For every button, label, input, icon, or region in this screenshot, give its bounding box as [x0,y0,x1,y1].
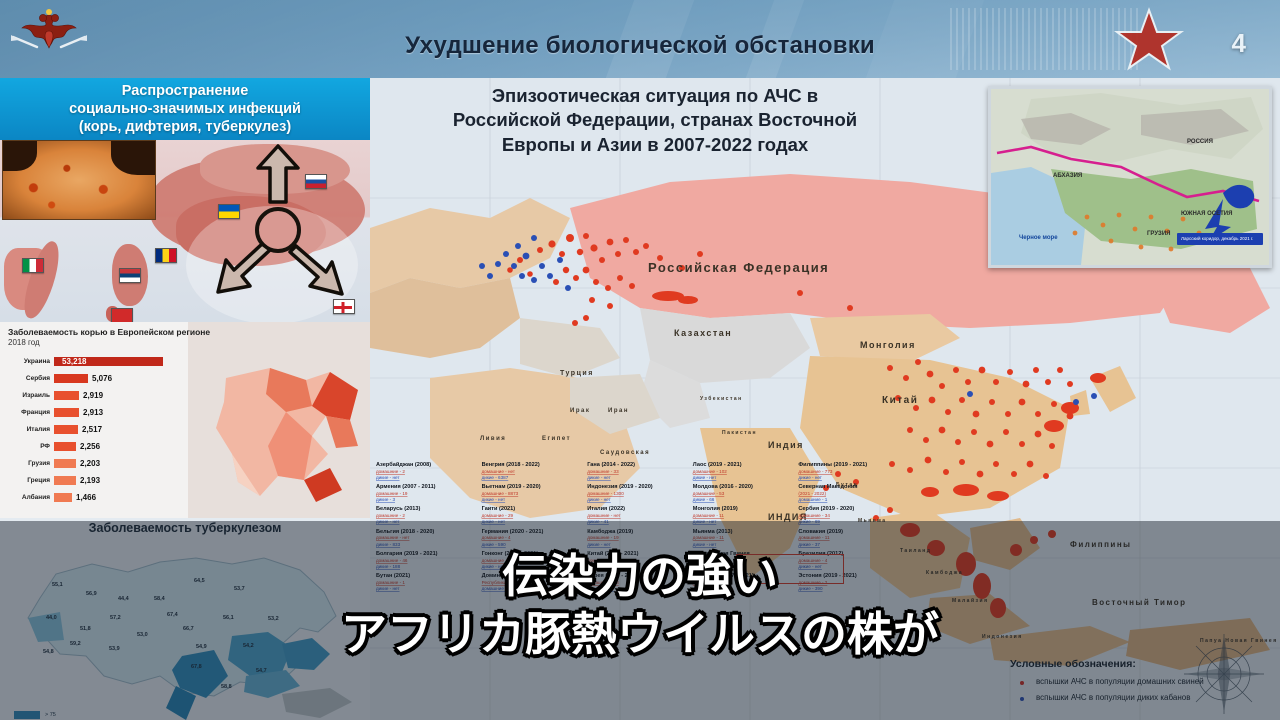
map-title: Эпизоотическая ситуация по АЧС в Российс… [375,84,935,157]
measles-bar-value: 2,517 [78,425,102,434]
outbreak-entry: Северная Македония(2021 - 2022)домашние … [798,484,896,503]
outbreak-country-name: Вьетнам (2019 - 2020) [482,484,580,491]
measles-bar [54,408,79,417]
outbreak-country-name: Монголия (2019) [693,506,791,513]
measles-bar [54,391,79,400]
measles-bar-label: Грузия [6,460,54,467]
measles-bar-row: Италия2,517 [6,422,102,437]
outbreak-country-name: Армения (2007 - 2011) [376,484,474,491]
measles-incidence-chart: Заболеваемость корью в Европейском регио… [0,322,370,518]
heading-line-2: социально-значимых инфекций [69,100,301,118]
pathogen-micrograph [2,140,156,220]
outbreak-wild-count: дикие - нет [587,497,685,503]
measles-bar-value: 5,076 [88,374,112,383]
subtitle-block: 伝染力の強い アフリカ豚熱ウイルスの株が [0,548,1280,663]
measles-bar-value: 2,256 [76,442,100,451]
measles-bar [54,425,78,434]
measles-bar-label: Франция [6,409,54,416]
slide-header: 4 Ухудшение биологической обстановки [0,0,1280,78]
outbreak-wild-count: дикие - 66 [693,497,791,503]
outbreak-wild-count: дикие - 6387 [482,475,580,481]
outbreak-country-name: Беларусь (2013) [376,506,474,513]
outbreak-entry: Лаос (2019 - 2021)домашние - 102дикие - … [693,462,791,481]
measles-bar-label: Италия [6,426,54,433]
spread-arrows [190,144,368,316]
measles-bar [54,493,72,502]
outbreak-country-name: Италия (2022) [587,506,685,513]
outbreak-wild-count: домашние - 1 [798,497,896,503]
outbreak-wild-count: дикие - нет [376,475,474,481]
measles-bar-row: Украина53,218 [6,354,163,369]
outbreak-entry: Индонезия (2019 - 2020)домашние - 1300ди… [587,484,685,503]
outbreak-country-name: Азербайджан (2008) [376,462,474,469]
outbreak-wild-count: дикие - 3 [376,497,474,503]
outbreak-entry: Вьетнам (2019 - 2020)домашние - 8873дики… [482,484,580,503]
measles-bar-value: 2,203 [76,459,100,468]
outbreak-wild-count: дикие - нет [693,475,791,481]
measles-bar-row: Франция2,913 [6,405,103,420]
map-title-line-1: Эпизоотическая ситуация по АЧС в [375,84,935,108]
infection-spread-map [0,140,370,322]
inset-map-label: ЮЖНАЯ ОСЕТИЯ [1181,211,1232,217]
measles-bar-label: Украина [6,358,54,365]
caucasus-border-inset-map: РОССИЯАБХАЗИЯЮЖНАЯ ОСЕТИЯГРУЗИЯЧерное мо… [988,86,1272,268]
measles-bar-row: Израиль2,919 [6,388,103,403]
outbreak-entry: Гана (2014 - 2022)домашние - 33дикие - н… [587,462,685,481]
outbreak-wild-count: дикие - нет [798,475,896,481]
inset-map-label: Черное море [1019,235,1058,241]
subtitle-line-1: 伝染力の強い [0,548,1280,606]
heading-line-3: (корь, дифтерия, туберкулез) [79,118,291,136]
inset-map-label: ГРУЗИЯ [1147,231,1170,237]
flag-albania [111,308,133,322]
chart-subtitle: 2018 год [8,338,40,347]
inset-map-label: РОССИЯ [1187,139,1213,145]
measles-bar-row: РФ2,256 [6,439,100,454]
measles-bar-row: Албания1,466 [6,490,96,505]
heading-line-1: Распространение [122,82,249,100]
left-panel-heading: Распространение социально-значимых инфек… [0,78,370,140]
outbreak-country-name: Молдова (2016 - 2020) [693,484,791,491]
measles-bar-value: 2,193 [76,476,100,485]
outbreak-entry: Венгрия (2018 - 2022)домашние - нетдикие… [482,462,580,481]
outbreak-entry: Азербайджан (2008)домашние - 2дикие - не… [376,462,474,481]
outbreak-wild-count: дикие - нет [587,475,685,481]
outbreak-country-name: Лаос (2019 - 2021) [693,462,791,469]
measles-bar-value: 53,218 [58,357,86,366]
outbreak-country-name: Сербия (2019 - 2020) [798,506,896,513]
outbreak-country-name: Гаити (2021) [482,506,580,513]
page-title: Ухудшение биологической обстановки [0,32,1280,60]
chart-title: Заболеваемость корью в Европейском регио… [8,327,210,337]
outbreak-country-name: Северная Македония [798,484,896,491]
measles-bar-label: Греция [6,477,54,484]
measles-bar [54,374,88,383]
measles-bar-value: 2,913 [79,408,103,417]
inset-callout-label: Ларсский коридор, декабрь 2021 г. [1177,233,1263,245]
outbreak-country-name: Венгрия (2018 - 2022) [482,462,580,469]
outbreak-entry: Филиппины (2019 - 2021)домашние - 773дик… [798,462,896,481]
outbreak-country-name: Индонезия (2019 - 2020) [587,484,685,491]
outbreak-country-name: Гана (2014 - 2022) [587,462,685,469]
outbreak-country-name: Филиппины (2019 - 2021) [798,462,896,469]
outbreak-wild-count: дикие - нет [482,497,580,503]
measles-bar-label: РФ [6,443,54,450]
europe-choropleth-map [208,350,368,515]
measles-bar-value: 1,466 [72,493,96,502]
flag-italy [22,258,44,273]
subtitle-line-2: アフリカ豚熱ウイルスの株が [0,606,1280,664]
outbreak-entry: Армения (2007 - 2011)домашние - 19дикие … [376,484,474,503]
measles-bar-label: Сербия [6,375,54,382]
measles-bar [54,442,76,451]
inset-map-label: АБХАЗИЯ [1053,173,1082,179]
measles-bar-label: Албания [6,494,54,501]
measles-bar-row: Сербия5,076 [6,371,112,386]
flag-serbia [119,268,141,283]
map-title-line-2: Российской Федерации, странах Восточной [375,108,935,132]
outbreak-entry: Молдова (2016 - 2020)домашние - 53дикие … [693,484,791,503]
measles-bar-label: Израиль [6,392,54,399]
measles-bar [54,476,76,485]
map-title-line-3: Европы и Азии в 2007-2022 годах [375,133,935,157]
video-frame: 4 Ухудшение биологической обстановки Рас… [0,0,1280,720]
measles-bar [54,459,76,468]
measles-bar-row: Греция2,193 [6,473,100,488]
measles-bar-row: Грузия2,203 [6,456,100,471]
measles-bar-value: 2,919 [79,391,103,400]
flag-romania [155,248,177,263]
